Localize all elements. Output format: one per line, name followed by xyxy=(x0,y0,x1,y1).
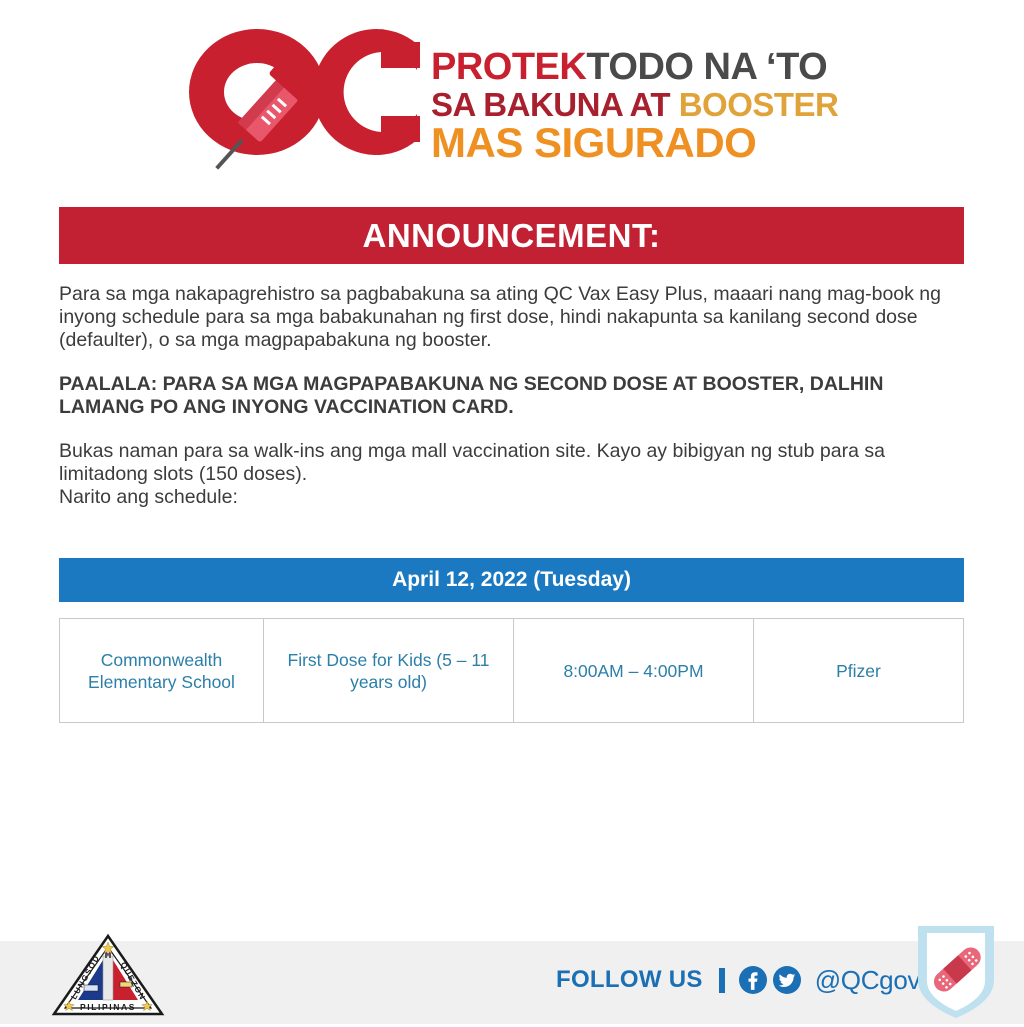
slogan-line-2: SA BAKUNA AT BOOSTER xyxy=(431,88,851,121)
slogan-todo-na-to: TODO NA ‘TO xyxy=(586,46,827,88)
announcement-paragraph-1: Para sa mga nakapagrehistro sa pagbabaku… xyxy=(59,283,969,352)
announcement-paragraph-2-reminder: PAALALA: PARA SA MGA MAGPAPABAKUNA NG SE… xyxy=(59,373,969,419)
quezon-city-seal: LUNGSOD QUEZON PILIPINAS xyxy=(48,930,168,1020)
schedule-cell-vaccine: Pfizer xyxy=(754,619,963,722)
follow-us-label: FOLLOW US xyxy=(556,966,703,994)
slogan-line-1: PROTEKTODO NA ‘TO xyxy=(431,48,851,86)
twitter-icon[interactable] xyxy=(773,966,801,994)
qc-protektodo-logo: PROTEKTODO NA ‘TO SA BAKUNA AT BOOSTER M… xyxy=(185,22,845,187)
schedule-cell-site: Commonwealth Elementary School xyxy=(60,619,264,722)
schedule-date-label: April 12, 2022 (Tuesday) xyxy=(392,568,631,592)
slogan-booster: BOOSTER xyxy=(679,86,839,123)
announcement-body: Para sa mga nakapagrehistro sa pagbabaku… xyxy=(59,283,969,509)
slogan-block: PROTEKTODO NA ‘TO SA BAKUNA AT BOOSTER M… xyxy=(431,48,851,164)
announcement-banner-label: ANNOUNCEMENT: xyxy=(363,217,661,255)
qc-logo-mark xyxy=(185,22,420,187)
schedule-cell-dose-type: First Dose for Kids (5 – 11 years old) xyxy=(264,619,514,722)
facebook-icon[interactable] xyxy=(739,966,767,994)
follow-divider xyxy=(719,968,725,993)
qc-monogram-icon xyxy=(185,22,420,187)
social-handle[interactable]: @QCgov xyxy=(815,965,921,996)
follow-us-block: FOLLOW US @QCgov xyxy=(556,962,920,998)
schedule-cell-time: 8:00AM – 4:00PM xyxy=(514,619,754,722)
announcement-banner: ANNOUNCEMENT: xyxy=(59,207,964,264)
seal-text-pilipinas: PILIPINAS xyxy=(80,1002,136,1012)
page-header: PROTEKTODO NA ‘TO SA BAKUNA AT BOOSTER M… xyxy=(0,0,1024,195)
shield-bandage-badge xyxy=(908,918,1004,1022)
slogan-sa-bakuna-at: SA BAKUNA AT xyxy=(431,86,679,123)
announcement-paragraph-3: Bukas naman para sa walk-ins ang mga mal… xyxy=(59,440,969,509)
slogan-line-3: MAS SIGURADO xyxy=(431,122,851,164)
schedule-date-banner: April 12, 2022 (Tuesday) xyxy=(59,558,964,602)
shield-bandage-icon xyxy=(908,918,1004,1022)
qc-seal-icon: LUNGSOD QUEZON PILIPINAS xyxy=(48,930,168,1020)
slogan-protek: PROTEK xyxy=(431,46,586,88)
schedule-table: Commonwealth Elementary School First Dos… xyxy=(59,618,964,723)
